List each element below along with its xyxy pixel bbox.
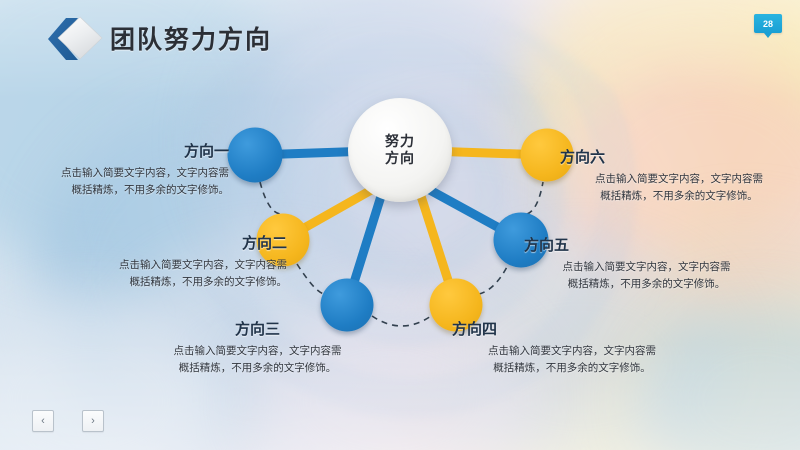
hub-line-1: 努力 bbox=[385, 133, 415, 151]
body-line-2: 概括精炼，不用多余的文字修饰。 bbox=[140, 360, 375, 377]
heading-direction-3: 方向三 bbox=[140, 318, 375, 339]
body-line-1: 点击输入简要文字内容，文字内容需 bbox=[560, 171, 798, 188]
dashed-link-5-6 bbox=[527, 182, 543, 214]
label-block-direction-1[interactable]: 方向一 点击输入简要文字内容，文字内容需 概括精炼，不用多余的文字修饰。 bbox=[14, 140, 229, 199]
dashed-link-4-5 bbox=[479, 265, 508, 294]
body-line-1: 点击输入简要文字内容，文字内容需 bbox=[14, 165, 229, 182]
body-line-2: 概括精炼，不用多余的文字修饰。 bbox=[62, 274, 287, 291]
chevron-right-icon[interactable]: › bbox=[82, 410, 104, 432]
heading-direction-2: 方向二 bbox=[62, 232, 287, 253]
connector-lines bbox=[0, 0, 800, 450]
body-line-1: 点击输入简要文字内容，文字内容需 bbox=[452, 343, 692, 360]
body-line-1: 点击输入简要文字内容，文字内容需 bbox=[524, 259, 769, 276]
body-direction-2: 点击输入简要文字内容，文字内容需 概括精炼，不用多余的文字修饰。 bbox=[62, 257, 287, 291]
body-line-2: 概括精炼，不用多余的文字修饰。 bbox=[452, 360, 692, 377]
label-block-direction-4[interactable]: 方向四 点击输入简要文字内容，文字内容需 概括精炼，不用多余的文字修饰。 bbox=[452, 318, 692, 377]
label-block-direction-3[interactable]: 方向三 点击输入简要文字内容，文字内容需 概括精炼，不用多余的文字修饰。 bbox=[140, 318, 375, 377]
body-line-1: 点击输入简要文字内容，文字内容需 bbox=[140, 343, 375, 360]
heading-direction-1: 方向一 bbox=[14, 140, 229, 161]
dashed-link-1-2 bbox=[260, 182, 280, 214]
label-block-direction-6[interactable]: 方向六 点击输入简要文字内容，文字内容需 概括精炼，不用多余的文字修饰。 bbox=[560, 146, 798, 205]
center-hub-label: 努力 方向 bbox=[385, 133, 415, 168]
heading-direction-6: 方向六 bbox=[560, 146, 798, 167]
body-direction-5: 点击输入简要文字内容，文字内容需 概括精炼，不用多余的文字修饰。 bbox=[524, 259, 769, 293]
chevron-left-icon[interactable]: ‹ bbox=[32, 410, 54, 432]
body-line-2: 概括精炼，不用多余的文字修饰。 bbox=[524, 276, 769, 293]
slide-navigation: ‹ › bbox=[32, 410, 104, 432]
body-direction-6: 点击输入简要文字内容，文字内容需 概括精炼，不用多余的文字修饰。 bbox=[560, 171, 798, 205]
body-direction-3: 点击输入简要文字内容，文字内容需 概括精炼，不用多余的文字修饰。 bbox=[140, 343, 375, 377]
dashed-link-3-4 bbox=[372, 316, 431, 326]
body-line-1: 点击输入简要文字内容，文字内容需 bbox=[62, 257, 287, 274]
hub-line-2: 方向 bbox=[385, 150, 415, 168]
dashed-link-2-3 bbox=[297, 264, 324, 294]
body-direction-1: 点击输入简要文字内容，文字内容需 概括精炼，不用多余的文字修饰。 bbox=[14, 165, 229, 199]
hub-and-spoke-diagram: 努力 方向 bbox=[0, 0, 800, 450]
slide-canvas: 团队努力方向 28 努力 方向 bbox=[0, 0, 800, 450]
node-direction-1[interactable] bbox=[228, 128, 283, 183]
body-line-2: 概括精炼，不用多余的文字修饰。 bbox=[14, 182, 229, 199]
body-line-2: 概括精炼，不用多余的文字修饰。 bbox=[560, 188, 798, 205]
label-block-direction-5[interactable]: 方向五 点击输入简要文字内容，文字内容需 概括精炼，不用多余的文字修饰。 bbox=[524, 234, 769, 293]
label-block-direction-2[interactable]: 方向二 点击输入简要文字内容，文字内容需 概括精炼，不用多余的文字修饰。 bbox=[62, 232, 287, 291]
heading-direction-4: 方向四 bbox=[452, 318, 692, 339]
heading-direction-5: 方向五 bbox=[524, 234, 769, 255]
center-hub[interactable]: 努力 方向 bbox=[348, 98, 452, 202]
body-direction-4: 点击输入简要文字内容，文字内容需 概括精炼，不用多余的文字修饰。 bbox=[452, 343, 692, 377]
